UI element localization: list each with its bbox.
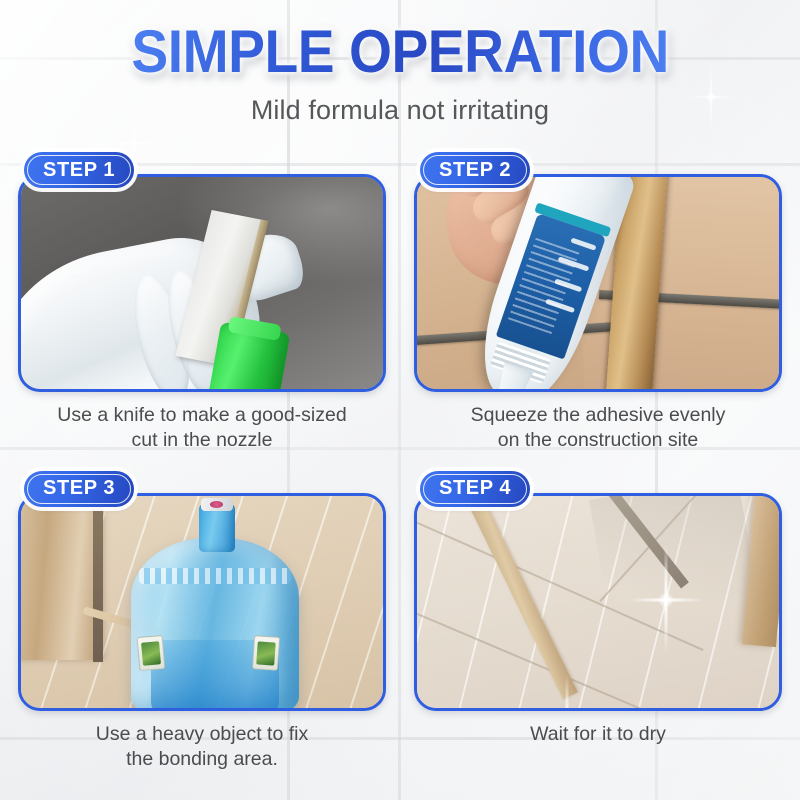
step-image-frame-3 <box>18 493 386 711</box>
promo-graphic-page: SIMPLE OPERATION Mild formula not irrita… <box>0 0 800 800</box>
step-badge-1: STEP 1 <box>24 152 134 188</box>
step-card-1: STEP 1 Use a knife to make a good-sized … <box>18 152 386 453</box>
step-caption-4: Wait for it to dry <box>414 722 782 747</box>
step-image-frame-4 <box>414 493 782 711</box>
caption-line: Use a heavy object to fix <box>18 722 386 747</box>
caption-line: on the construction site <box>414 428 782 453</box>
step-badge-label: STEP 2 <box>439 159 511 182</box>
step-badge-3: STEP 3 <box>24 471 134 507</box>
steps-grid: STEP 1 Use a knife to make a good-sized … <box>18 152 782 772</box>
step-image-frame-1 <box>18 174 386 392</box>
step-badge-label: STEP 3 <box>43 477 115 500</box>
step-caption-1: Use a knife to make a good-sized cut in … <box>18 403 386 453</box>
page-title: SIMPLE OPERATION <box>128 22 673 82</box>
caption-line: the bonding area. <box>18 747 386 772</box>
caption-line: Wait for it to dry <box>414 722 782 747</box>
step-caption-3: Use a heavy object to fix the bonding ar… <box>18 722 386 772</box>
step-card-3: STEP 3 Use a heavy object to fix <box>18 471 386 772</box>
step-badge-label: STEP 4 <box>439 477 511 500</box>
caption-line: Use a knife to make a good-sized <box>18 403 386 428</box>
step-badge-2: STEP 2 <box>420 152 530 188</box>
step-photo-2 <box>417 177 779 389</box>
page-subtitle: Mild formula not irritating <box>0 95 800 126</box>
step-image-frame-2 <box>414 174 782 392</box>
step-photo-4 <box>417 496 779 708</box>
step-card-2: STEP 2 <box>414 152 782 453</box>
step-badge-4: STEP 4 <box>420 471 530 507</box>
step-photo-3 <box>21 496 383 708</box>
step-photo-1 <box>21 177 383 389</box>
caption-line: Squeeze the adhesive evenly <box>414 403 782 428</box>
caption-line: cut in the nozzle <box>18 428 386 453</box>
step-card-4: STEP 4 <box>414 471 782 772</box>
step-caption-2: Squeeze the adhesive evenly on the const… <box>414 403 782 453</box>
step-badge-label: STEP 1 <box>43 159 115 182</box>
header: SIMPLE OPERATION Mild formula not irrita… <box>0 0 800 126</box>
